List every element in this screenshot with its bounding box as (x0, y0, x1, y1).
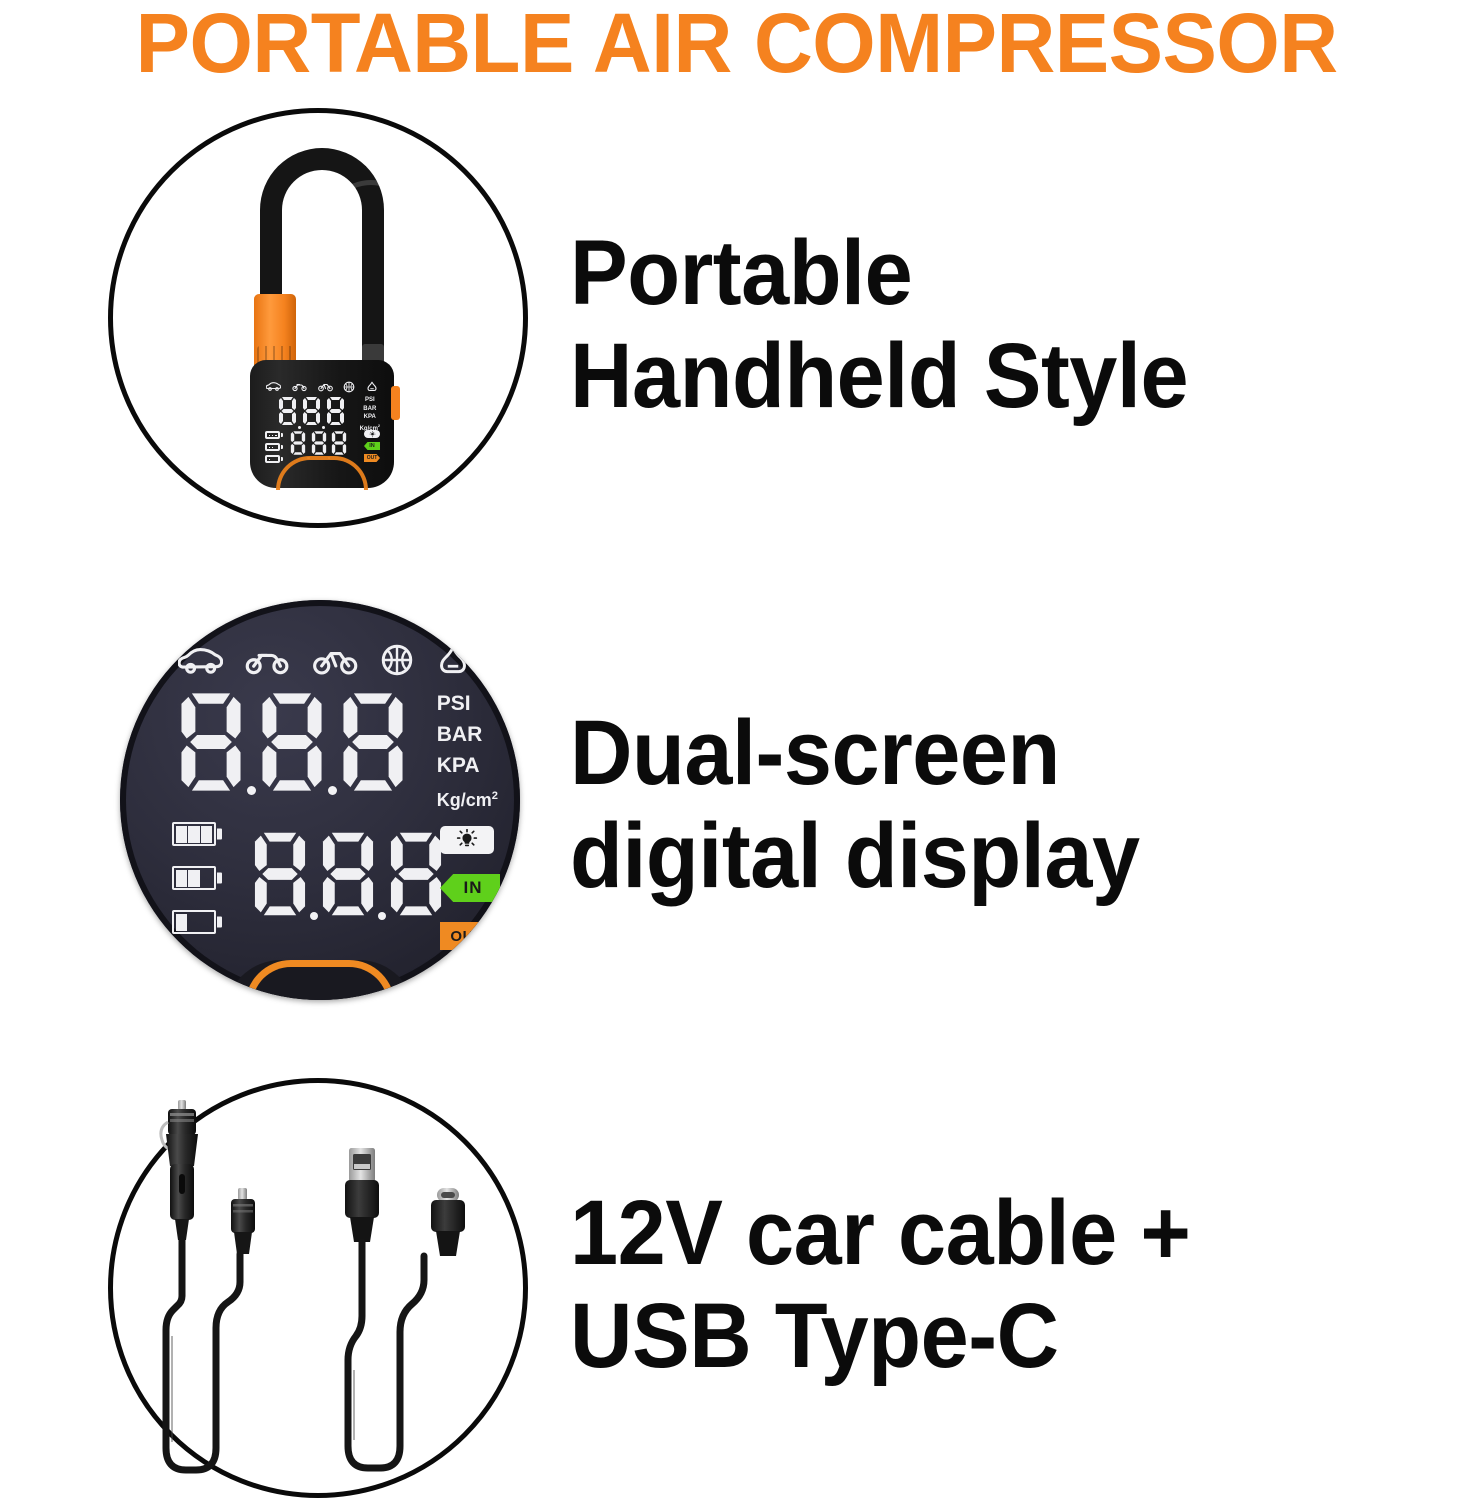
hose-highlight (322, 180, 420, 240)
decimal-point (298, 426, 301, 429)
motorcycle-icon[interactable] (245, 644, 290, 677)
decimal-point (247, 786, 256, 795)
text-portable-handheld: Portable Handheld Style (560, 222, 1474, 428)
led-light-arc (276, 456, 368, 490)
heading-line-2: digital display (570, 805, 1392, 908)
battery-full-icon (265, 431, 280, 439)
heading-line-1: 12V car cable + (570, 1182, 1392, 1285)
car-icon[interactable] (178, 644, 223, 677)
bicycle-icon (318, 381, 333, 392)
pressure-readout-top (278, 396, 345, 431)
feature-heading-portable-handheld: Portable Handheld Style (570, 222, 1392, 428)
out-chip: OUT (364, 454, 380, 462)
seg-digit (320, 828, 376, 925)
car-icon (266, 381, 281, 392)
unit-psi[interactable]: PSI (437, 688, 471, 719)
decimal-point (310, 912, 318, 920)
vehicle-mode-row (266, 380, 378, 393)
cable-set (0, 1070, 560, 1500)
unit-bar: BAR (363, 405, 376, 414)
pressure-readout-bottom (252, 828, 444, 925)
battery-low-icon (172, 910, 216, 934)
page-title-banner: PORTABLE AIR COMPRESSOR (0, 0, 1474, 86)
in-chip: IN (364, 442, 380, 450)
light-chip[interactable] (440, 826, 494, 854)
decimal-point (322, 426, 325, 429)
unit-kgcm2[interactable]: Kg/cm2 (437, 781, 498, 816)
seg-digit (340, 688, 406, 801)
inflatable-icon[interactable] (436, 644, 470, 676)
decimal-point (378, 912, 386, 920)
heading-line-2: USB Type-C (570, 1285, 1392, 1388)
seg-digit (259, 688, 325, 801)
status-chips: IN OUT (364, 430, 380, 462)
feature-row-portable-handheld: PSI BAR KPA Kg/cm2 (0, 100, 1474, 550)
battery-indicators (265, 431, 280, 463)
unit-labels: PSI BAR KPA Kg/cm2 (360, 396, 380, 433)
power-button[interactable] (391, 386, 400, 420)
pressure-readout-top (178, 688, 406, 801)
compressor-body: PSI BAR KPA Kg/cm2 (250, 360, 394, 488)
media-cables (0, 1070, 560, 1500)
seg-digit (388, 828, 444, 925)
unit-bar[interactable]: BAR (437, 719, 483, 750)
unit-kpa[interactable]: KPA (437, 750, 480, 781)
usb-c-cable (345, 1148, 465, 1468)
led-light-arc (245, 960, 395, 1000)
heading-line-1: Dual-screen (570, 702, 1392, 805)
light-chip[interactable] (364, 430, 380, 438)
media-dual-screen: PSI BAR KPA Kg/cm2 (0, 590, 560, 1020)
seg-digit (326, 396, 345, 431)
heading-line-1: Portable (570, 222, 1392, 325)
text-cables: 12V car cable + USB Type-C (560, 1182, 1474, 1388)
battery-medium-icon (265, 443, 280, 451)
basketball-icon[interactable] (380, 643, 414, 677)
seg-digit (178, 688, 244, 801)
decimal-point (328, 786, 337, 795)
unit-labels: PSI BAR KPA Kg/cm2 (437, 688, 498, 816)
seg-digit (278, 396, 297, 431)
feature-heading-cables: 12V car cable + USB Type-C (570, 1182, 1392, 1388)
media-portable-handheld: PSI BAR KPA Kg/cm2 (0, 100, 560, 550)
battery-low-icon (265, 455, 280, 463)
unit-kpa: KPA (364, 413, 376, 422)
out-chip: OUT (440, 922, 500, 950)
feature-row-dual-screen: PSI BAR KPA Kg/cm2 (0, 590, 1474, 1020)
unit-psi: PSI (365, 396, 375, 405)
battery-medium-icon (172, 866, 216, 890)
heading-line-2: Handheld Style (570, 325, 1392, 428)
feature-row-cables: 12V car cable + USB Type-C (0, 1070, 1474, 1500)
in-chip: IN (440, 874, 500, 902)
dual-screen-display: PSI BAR KPA Kg/cm2 (120, 600, 520, 1000)
seg-digit (302, 396, 321, 431)
feature-heading-dual-screen: Dual-screen digital display (570, 702, 1392, 908)
basketball-icon (343, 381, 355, 393)
text-dual-screen: Dual-screen digital display (560, 702, 1474, 908)
seg-digit (252, 828, 308, 925)
device-lcd-screen: PSI BAR KPA Kg/cm2 (264, 380, 380, 460)
battery-full-icon (172, 822, 216, 846)
car-charger-cable (161, 1100, 255, 1470)
bicycle-icon[interactable] (313, 644, 358, 677)
motorcycle-icon (292, 381, 307, 392)
inflatable-icon (366, 381, 378, 392)
battery-indicators (172, 822, 216, 934)
vehicle-mode-row (178, 642, 470, 678)
status-chips: IN OUT (440, 826, 500, 950)
page-title: PORTABLE AIR COMPRESSOR (136, 0, 1338, 86)
handheld-compressor-device: PSI BAR KPA Kg/cm2 (232, 148, 412, 488)
